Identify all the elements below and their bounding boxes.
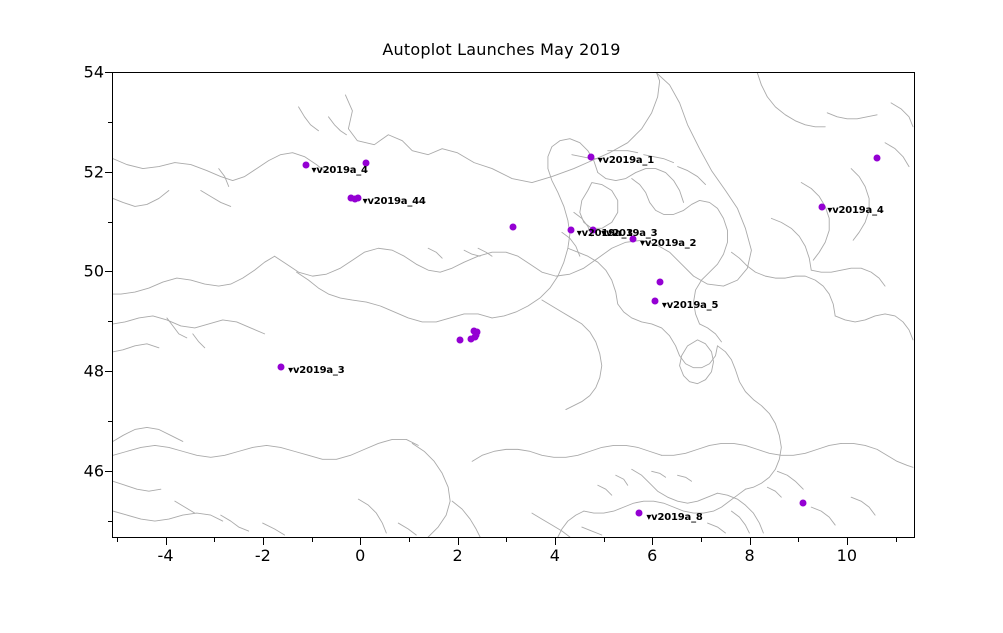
data-point[interactable] <box>635 510 642 517</box>
x-tick-label: 2 <box>452 546 462 565</box>
x-tick-label: 6 <box>647 546 657 565</box>
x-tick-minor <box>896 538 897 542</box>
x-tick-minor <box>409 538 410 542</box>
data-point[interactable] <box>656 279 663 286</box>
data-point[interactable] <box>509 224 516 231</box>
data-point[interactable] <box>468 335 475 342</box>
data-point-label: ▾v2019a_2 <box>640 238 696 249</box>
data-point-label: ▾v2019a_3 <box>288 365 344 376</box>
x-tick-minor <box>701 538 702 542</box>
page-title: Autoplot Launches May 2019 <box>0 40 1003 59</box>
x-tick-label: -4 <box>158 546 174 565</box>
data-point[interactable] <box>456 337 463 344</box>
x-tick-minor <box>506 538 507 542</box>
data-point-label: ▾v2019a_44 <box>363 196 426 207</box>
x-tick-label: 0 <box>355 546 365 565</box>
y-tick-major <box>105 271 112 272</box>
y-tick-label: 50 <box>84 262 104 281</box>
y-tick-major <box>105 471 112 472</box>
y-tick-label: 52 <box>84 162 104 181</box>
data-points-layer: ▾v2019a_4▾v2019a_44▾v2019a_1▾v2019a_4▾v2… <box>112 72 915 538</box>
data-point[interactable] <box>651 298 658 305</box>
x-tick-label: -2 <box>255 546 271 565</box>
x-tick-major <box>360 538 361 545</box>
x-tick-minor <box>117 538 118 542</box>
data-point-label: ▾v2019a_4 <box>312 165 368 176</box>
y-tick-label: 48 <box>84 362 104 381</box>
x-tick-minor <box>214 538 215 542</box>
x-tick-major <box>263 538 264 545</box>
data-point[interactable] <box>354 195 361 202</box>
x-tick-major <box>750 538 751 545</box>
x-tick-major <box>458 538 459 545</box>
data-point[interactable] <box>874 155 881 162</box>
x-tick-label: 4 <box>550 546 560 565</box>
y-axis-tick-labels: 5452504846 <box>62 72 104 538</box>
y-tick-label: 54 <box>84 63 104 82</box>
y-tick-major <box>105 72 112 73</box>
data-point[interactable] <box>302 162 309 169</box>
data-point-label: ▾v2019a_1 <box>598 155 654 166</box>
data-point[interactable] <box>277 364 284 371</box>
x-axis-tick-labels: -4-20246810 <box>112 546 915 572</box>
y-tick-label: 46 <box>84 461 104 480</box>
data-point-label: ▾v2019a_4 <box>827 205 883 216</box>
x-tick-label: 8 <box>744 546 754 565</box>
x-tick-major <box>652 538 653 545</box>
data-point[interactable] <box>588 153 595 160</box>
x-tick-minor <box>604 538 605 542</box>
data-point-label: ▾v2019a_8 <box>646 512 702 523</box>
x-tick-major <box>555 538 556 545</box>
data-point[interactable] <box>800 500 807 507</box>
data-point-label: ▾v2019a_5 <box>662 300 718 311</box>
x-tick-label: 10 <box>837 546 857 565</box>
x-tick-major <box>847 538 848 545</box>
y-tick-major <box>105 371 112 372</box>
y-tick-major <box>105 172 112 173</box>
matplotlib-figure: Autoplot Launches May 2019 <box>0 0 1003 633</box>
data-point[interactable] <box>567 227 574 234</box>
x-tick-minor <box>312 538 313 542</box>
x-tick-major <box>166 538 167 545</box>
x-tick-minor <box>798 538 799 542</box>
data-point[interactable] <box>818 203 825 210</box>
